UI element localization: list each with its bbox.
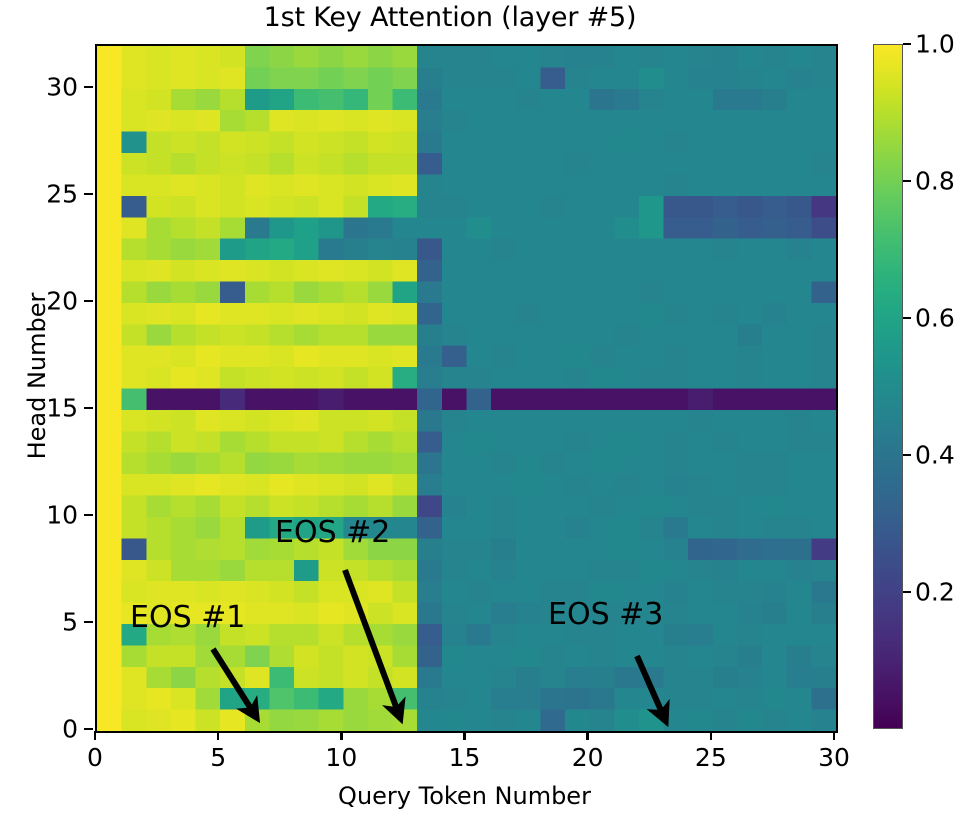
colorbar-tick-label: 1.0 — [915, 30, 955, 59]
y-tick-mark — [84, 514, 93, 517]
y-tick-label: 30 — [0, 72, 78, 101]
y-axis-label: Head Number — [23, 226, 51, 526]
x-tick-mark — [94, 731, 97, 740]
colorbar[interactable] — [873, 44, 903, 729]
x-tick-mark — [833, 731, 836, 740]
x-tick-label: 25 — [695, 743, 727, 772]
x-tick-label: 5 — [210, 743, 226, 772]
x-tick-mark — [463, 731, 466, 740]
y-tick-mark — [84, 86, 93, 89]
y-tick-mark — [84, 300, 93, 303]
x-tick-label: 20 — [572, 743, 604, 772]
page-title: 1st Key Attention (layer #5) — [0, 2, 900, 33]
colorbar-tick-mark — [903, 591, 911, 594]
colorbar-tick-mark — [903, 454, 911, 457]
y-tick-label: 25 — [0, 179, 78, 208]
y-tick-mark — [84, 621, 93, 624]
colorbar-tick-label: 0.2 — [915, 578, 955, 607]
colorbar-tick-mark — [903, 317, 911, 320]
y-tick-mark — [84, 193, 93, 196]
heatmap-figure: 1st Key Attention (layer #5) 05101520253… — [0, 0, 966, 814]
colorbar-tick-label: 0.8 — [915, 167, 955, 196]
x-tick-label: 0 — [87, 743, 103, 772]
x-tick-label: 10 — [325, 743, 357, 772]
y-tick-mark — [84, 407, 93, 410]
y-tick-label: 0 — [0, 715, 78, 744]
x-tick-mark — [340, 731, 343, 740]
annotation-label-1: EOS #1 — [130, 600, 245, 635]
colorbar-gradient — [874, 45, 902, 728]
colorbar-tick-mark — [903, 180, 911, 183]
x-tick-label: 30 — [818, 743, 850, 772]
y-tick-label: 5 — [0, 607, 78, 636]
x-axis-label: Query Token Number — [95, 782, 834, 810]
x-tick-mark — [217, 731, 220, 740]
colorbar-tick-label: 0.4 — [915, 441, 955, 470]
y-tick-mark — [84, 728, 93, 731]
annotation-label-3: EOS #3 — [548, 597, 663, 632]
colorbar-tick-label: 0.6 — [915, 304, 955, 333]
x-tick-mark — [710, 731, 713, 740]
x-tick-mark — [586, 731, 589, 740]
colorbar-tick-mark — [903, 43, 911, 46]
annotation-label-2: EOS #2 — [275, 515, 390, 550]
x-tick-label: 15 — [449, 743, 481, 772]
